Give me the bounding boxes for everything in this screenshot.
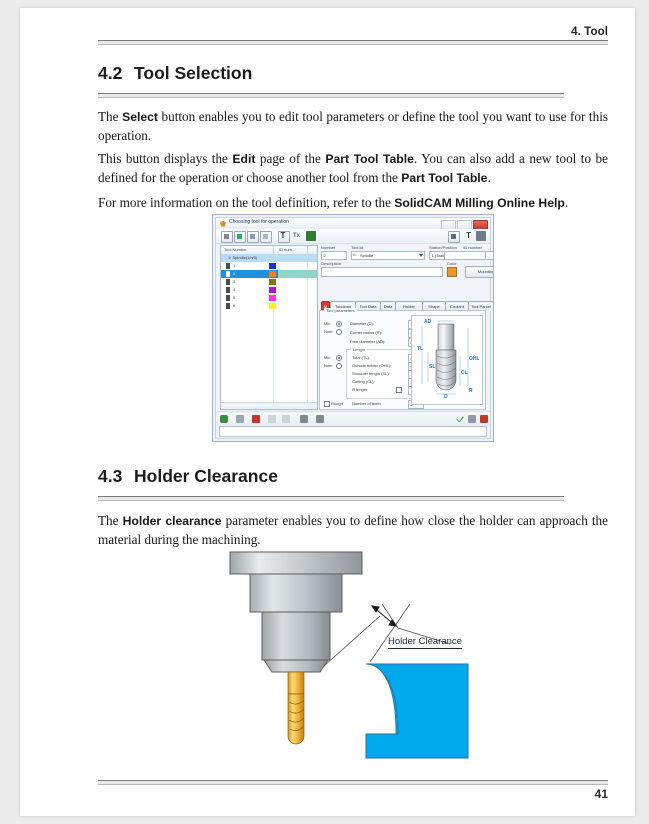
description-input[interactable] <box>321 267 443 277</box>
tool-icon <box>226 279 230 285</box>
prev-tool-icon[interactable] <box>268 415 276 423</box>
nom-label-2: Nom <box>324 363 332 368</box>
solidcam-icon <box>220 221 226 227</box>
holder-taper <box>262 612 330 660</box>
p4-text-a: The <box>98 513 123 528</box>
tool-color-swatch <box>269 303 276 309</box>
holder-flange <box>230 552 362 574</box>
tool-list-root[interactable]: 1: Spindle(1/n/0) <box>221 254 317 262</box>
delete-tool-icon[interactable] <box>252 415 260 423</box>
teeth-label: Number of teeth <box>352 401 381 406</box>
p1-text-a: The <box>98 109 122 124</box>
view-icons-icon[interactable] <box>234 231 246 243</box>
tool-color-swatch <box>269 279 276 285</box>
tool-shank <box>288 672 304 694</box>
table-row[interactable]: 5 <box>221 294 317 302</box>
spindle-icon: S <box>353 252 356 257</box>
tool-color-swatch <box>269 263 276 269</box>
paragraph-edit-page: This button displays the Edit page of th… <box>98 150 608 187</box>
length-caption: Length <box>351 347 367 352</box>
table-row[interactable]: 3 <box>221 278 317 286</box>
nom-radio[interactable] <box>336 329 342 335</box>
col-id-number: ID num... <box>279 247 295 252</box>
p3-bold-help: Milling Online Help <box>455 196 565 210</box>
heading-4-3-title: Holder Clearance <box>134 466 278 486</box>
holder-body <box>250 574 342 612</box>
p3-text-c: . <box>565 195 568 210</box>
leader-lines <box>324 604 410 666</box>
tool-row-name: 3 <box>233 279 235 284</box>
svg-text:OHL: OHL <box>469 356 480 362</box>
r-length-checkbox[interactable] <box>396 387 402 393</box>
toolkit-value: Spindle <box>360 253 373 258</box>
add-tool-icon[interactable] <box>220 415 228 423</box>
heading-4-3-number: 4.3 <box>98 466 134 487</box>
corner-radius-label: Corner radius (R): <box>350 330 382 335</box>
color-label: Color <box>447 261 457 266</box>
cancel-icon[interactable] <box>480 415 488 423</box>
tool-color-swatch <box>269 287 276 293</box>
tool-icon <box>226 303 230 309</box>
tool-root-label: 1: Spindle(1/n/0) <box>228 255 257 260</box>
text-glyph: T <box>281 231 286 241</box>
tool-list[interactable]: Tool Number ID num... 1: Spindle(1/n/0) … <box>220 245 318 410</box>
paragraph-select: The Select button enables you to edit to… <box>98 108 608 145</box>
holder-clearance-callout-text: Holder Clearance <box>388 636 462 649</box>
tool-parameters-caption: Tool parameters <box>324 308 357 313</box>
rough-label: Rough <box>331 401 343 406</box>
page-number: 41 <box>98 787 608 801</box>
free-diameter-label: Free diameter (AD): <box>350 339 385 344</box>
right-text-glyph[interactable]: T <box>466 231 471 241</box>
holder-clearance-diagram <box>220 544 500 770</box>
table-row[interactable]: 1 <box>221 262 317 270</box>
min-radio[interactable] <box>336 321 342 327</box>
tool-row-name: 5 <box>233 295 235 300</box>
diameter-label: Diameter (D): <box>350 321 374 326</box>
p2-bold-ptt-1: Part Tool Table <box>325 152 414 166</box>
heading-4-2-rule <box>98 93 564 98</box>
tool-parameters-panel: Number 2 Tool kit Spindle S Station/Posi… <box>319 245 486 410</box>
number-label: Number <box>321 245 335 250</box>
import-tool-icon[interactable] <box>300 415 308 423</box>
running-header: 4. Tool <box>98 22 608 40</box>
heading-4-3-rule <box>98 496 564 501</box>
p2-bold-edit: Edit <box>232 152 255 166</box>
nom-radio-2[interactable] <box>336 363 342 369</box>
tool-selection-dialog-image: Choosing tool for operation T Tx T <box>212 214 494 442</box>
holder-clearance-callout: Holder Clearance <box>388 636 462 647</box>
p3-bold-solidcam: SolidCAM <box>394 196 452 210</box>
nom-label: Nom <box>324 329 332 334</box>
dialog-status-bar <box>219 426 487 437</box>
svg-text:TL: TL <box>417 346 423 352</box>
view-small-icon[interactable] <box>260 231 272 243</box>
number-input[interactable]: 2 <box>321 251 347 260</box>
rough-checkbox[interactable] <box>324 401 330 407</box>
svg-text:D: D <box>444 394 448 400</box>
tool-preview-image: ADTLSL OHLCLDR <box>411 315 483 405</box>
view-details-icon[interactable] <box>247 231 259 243</box>
collet-nut <box>264 660 328 672</box>
tool-row-name: 2 <box>233 271 235 276</box>
tool-row-name: 6 <box>233 303 235 308</box>
mounting-button[interactable]: Mounting >> <box>465 266 494 278</box>
tool-color-swatch <box>269 295 276 301</box>
maximize-icon[interactable] <box>457 220 472 230</box>
cutting-length-label: Cutting (CL): <box>352 379 375 384</box>
paragraph-more-info: For more information on the tool definit… <box>98 194 608 213</box>
copy-tool-icon[interactable] <box>236 415 244 423</box>
p3-text-a: For more information on the tool definit… <box>98 195 394 210</box>
heading-4-2: 4.2Tool Selection <box>98 63 252 84</box>
p2-text-b: page of the <box>255 151 325 166</box>
document-page: 4. Tool 4.2Tool Selection The Select but… <box>20 8 635 816</box>
svg-text:SL: SL <box>429 364 435 370</box>
table-row[interactable]: 6 <box>221 302 317 310</box>
shoulder-length-label: Shoulder length (SL): <box>352 371 390 376</box>
col-tool-number: Tool Number <box>224 247 247 252</box>
export-tool-icon[interactable] <box>316 415 324 423</box>
svg-text:AD: AD <box>424 319 432 325</box>
min-label: Min <box>324 321 330 326</box>
table-icon[interactable] <box>448 231 460 243</box>
p4-bold-hc: Holder clearance <box>123 514 222 528</box>
tool-row-name: 1 <box>233 263 235 268</box>
footer-rule <box>98 780 608 785</box>
p1-text-b: button enables you to edit tool paramete… <box>98 109 608 143</box>
dialog-title: Choosing tool for operation <box>229 219 289 225</box>
number-value: 2 <box>324 253 326 258</box>
header-rule <box>98 40 608 45</box>
idnumber-input[interactable] <box>444 251 486 260</box>
p1-bold-select: Select <box>122 110 158 124</box>
color-swatch-button[interactable] <box>447 267 457 277</box>
window-buttons <box>441 220 488 230</box>
tool-row-name: 4 <box>233 287 235 292</box>
tool-flutes <box>288 694 304 744</box>
min-radio-2[interactable] <box>336 355 342 361</box>
endmill-diagram: ADTLSL OHLCLDR <box>412 316 482 404</box>
tool-color-swatch <box>269 271 276 277</box>
table-row[interactable]: 4 <box>221 286 317 294</box>
heading-4-2-title: Tool Selection <box>134 63 252 83</box>
p2-text-d: . <box>487 170 490 185</box>
r-length-label: R length: <box>352 387 368 392</box>
table-row-selected[interactable]: 2 <box>221 270 317 278</box>
tool-list-scrollbar[interactable] <box>221 402 317 409</box>
toolkit-select[interactable]: Spindle <box>351 251 425 260</box>
outside-holder-label: Outside holder (OHL): <box>352 363 391 368</box>
ok-check-icon[interactable] <box>456 415 464 423</box>
find-binoculars-icon[interactable] <box>306 231 316 241</box>
tab-tool-message[interactable]: Tool Message <box>493 301 494 311</box>
tool-parameters-group: Tool parameters Min Nom Diameter (D): 12… <box>319 310 486 410</box>
text-sub-glyph[interactable]: Tx <box>293 231 300 241</box>
tool-icon <box>226 287 230 293</box>
total-length-label: Total (TL): <box>352 355 370 360</box>
svg-text:R: R <box>469 388 473 394</box>
next-tool-icon[interactable] <box>282 415 290 423</box>
wrench-icon[interactable] <box>476 231 486 241</box>
toolkit-label: Tool kit <box>351 245 363 250</box>
tool-icon <box>226 295 230 301</box>
dialog-frame: Choosing tool for operation T Tx T <box>215 217 491 439</box>
dialog-toolbar: T Tx T <box>216 229 490 244</box>
p2-bold-ptt-2: Part Tool Table <box>401 171 487 185</box>
clearance-dimension-arrows <box>372 606 396 626</box>
heading-4-3: 4.3Holder Clearance <box>98 466 278 487</box>
save-icon[interactable] <box>468 415 476 423</box>
min-label-2: Min <box>324 355 330 360</box>
screenshot-viewport: 4. Tool 4.2Tool Selection The Select but… <box>0 0 649 824</box>
view-list-icon[interactable] <box>221 231 233 243</box>
dialog-bottom-toolbar <box>216 411 490 426</box>
running-header-text: 4. Tool <box>571 26 608 38</box>
tool-icon <box>226 271 230 277</box>
svg-text:CL: CL <box>461 370 468 376</box>
station-label: Station/Position <box>429 245 457 250</box>
holder-clearance-illustration <box>220 544 500 770</box>
minimize-icon[interactable] <box>441 220 456 230</box>
close-icon[interactable] <box>473 220 488 230</box>
idnumber-label: ID number <box>463 245 482 250</box>
p2-text-a: This button displays the <box>98 151 232 166</box>
tool-icon <box>226 263 230 269</box>
description-label: Description <box>321 261 341 266</box>
heading-4-2-number: 4.2 <box>98 63 134 84</box>
